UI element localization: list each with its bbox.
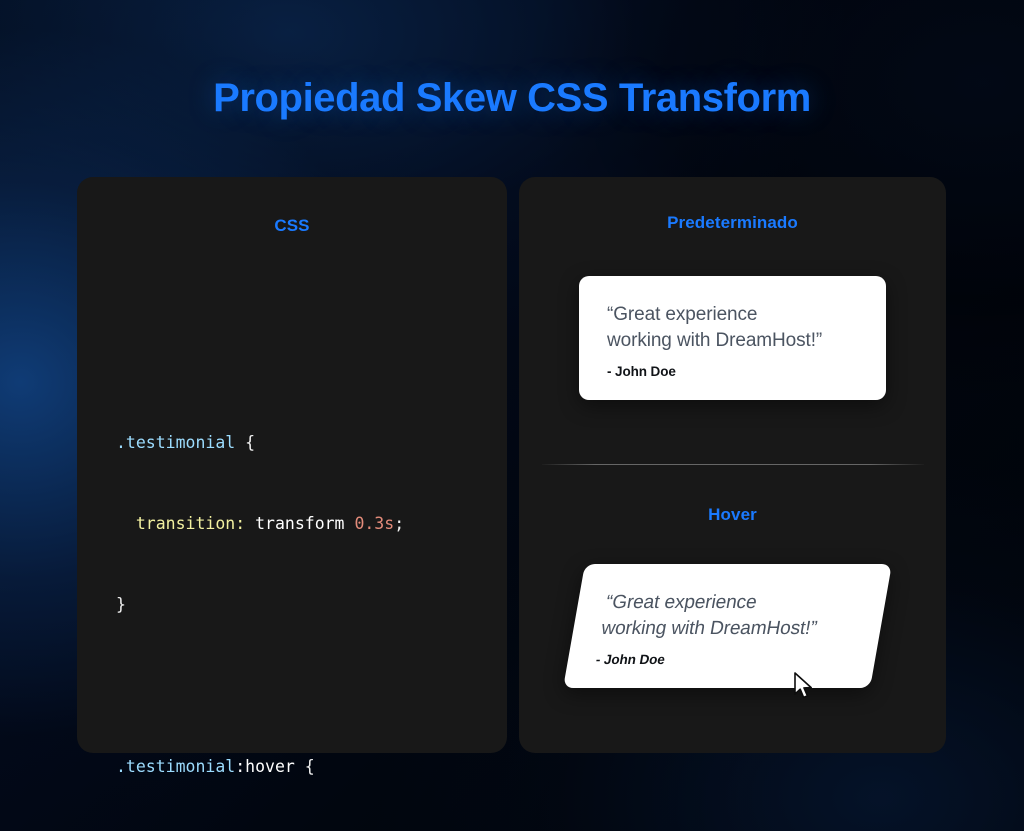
- code-token-selector-hover: .testimonial: [116, 757, 235, 776]
- code-line-5: .testimonial:hover {: [116, 753, 404, 780]
- code-token-number: 0.3s: [354, 514, 394, 533]
- hover-section-heading: Hover: [519, 505, 946, 525]
- slide-canvas: Propiedad Skew CSS Transform CSS .testim…: [0, 0, 1024, 831]
- code-token-selector: .testimonial: [116, 433, 235, 452]
- testimonial-card-default[interactable]: “Great experience working with DreamHost…: [579, 276, 886, 400]
- testimonial-quote: “Great experience working with DreamHost…: [607, 302, 858, 354]
- css-panel-heading: CSS: [77, 216, 507, 236]
- page-title: Propiedad Skew CSS Transform: [0, 76, 1024, 121]
- code-token-semicolon: ;: [394, 514, 404, 533]
- code-token-brace: {: [235, 433, 255, 452]
- code-line-blank: [116, 672, 404, 699]
- code-line-3: }: [116, 591, 404, 618]
- testimonial-card-default-inner: “Great experience working with DreamHost…: [579, 276, 886, 379]
- code-line-1: .testimonial {: [116, 429, 404, 456]
- default-section-heading: Predeterminado: [519, 213, 946, 233]
- testimonial-card-hover-inner: “Great experience working with DreamHost…: [567, 564, 892, 667]
- code-line-2: transition: transform 0.3s;: [116, 510, 404, 537]
- code-token-pseudo-class: :hover: [235, 757, 295, 776]
- testimonial-quote-hover: “Great experience working with DreamHost…: [599, 590, 859, 642]
- code-token-value: transform: [245, 514, 354, 533]
- section-divider: [542, 464, 924, 465]
- code-token-brace-hover: {: [295, 757, 315, 776]
- code-token-close-brace: }: [116, 595, 126, 614]
- testimonial-card-hover[interactable]: “Great experience working with DreamHost…: [563, 564, 892, 688]
- css-code-block: .testimonial { transition: transform 0.3…: [116, 375, 404, 831]
- code-token-indent: [116, 514, 136, 533]
- code-token-property: transition:: [136, 514, 245, 533]
- testimonial-author-hover: - John Doe: [595, 652, 849, 667]
- testimonial-author: - John Doe: [607, 364, 858, 379]
